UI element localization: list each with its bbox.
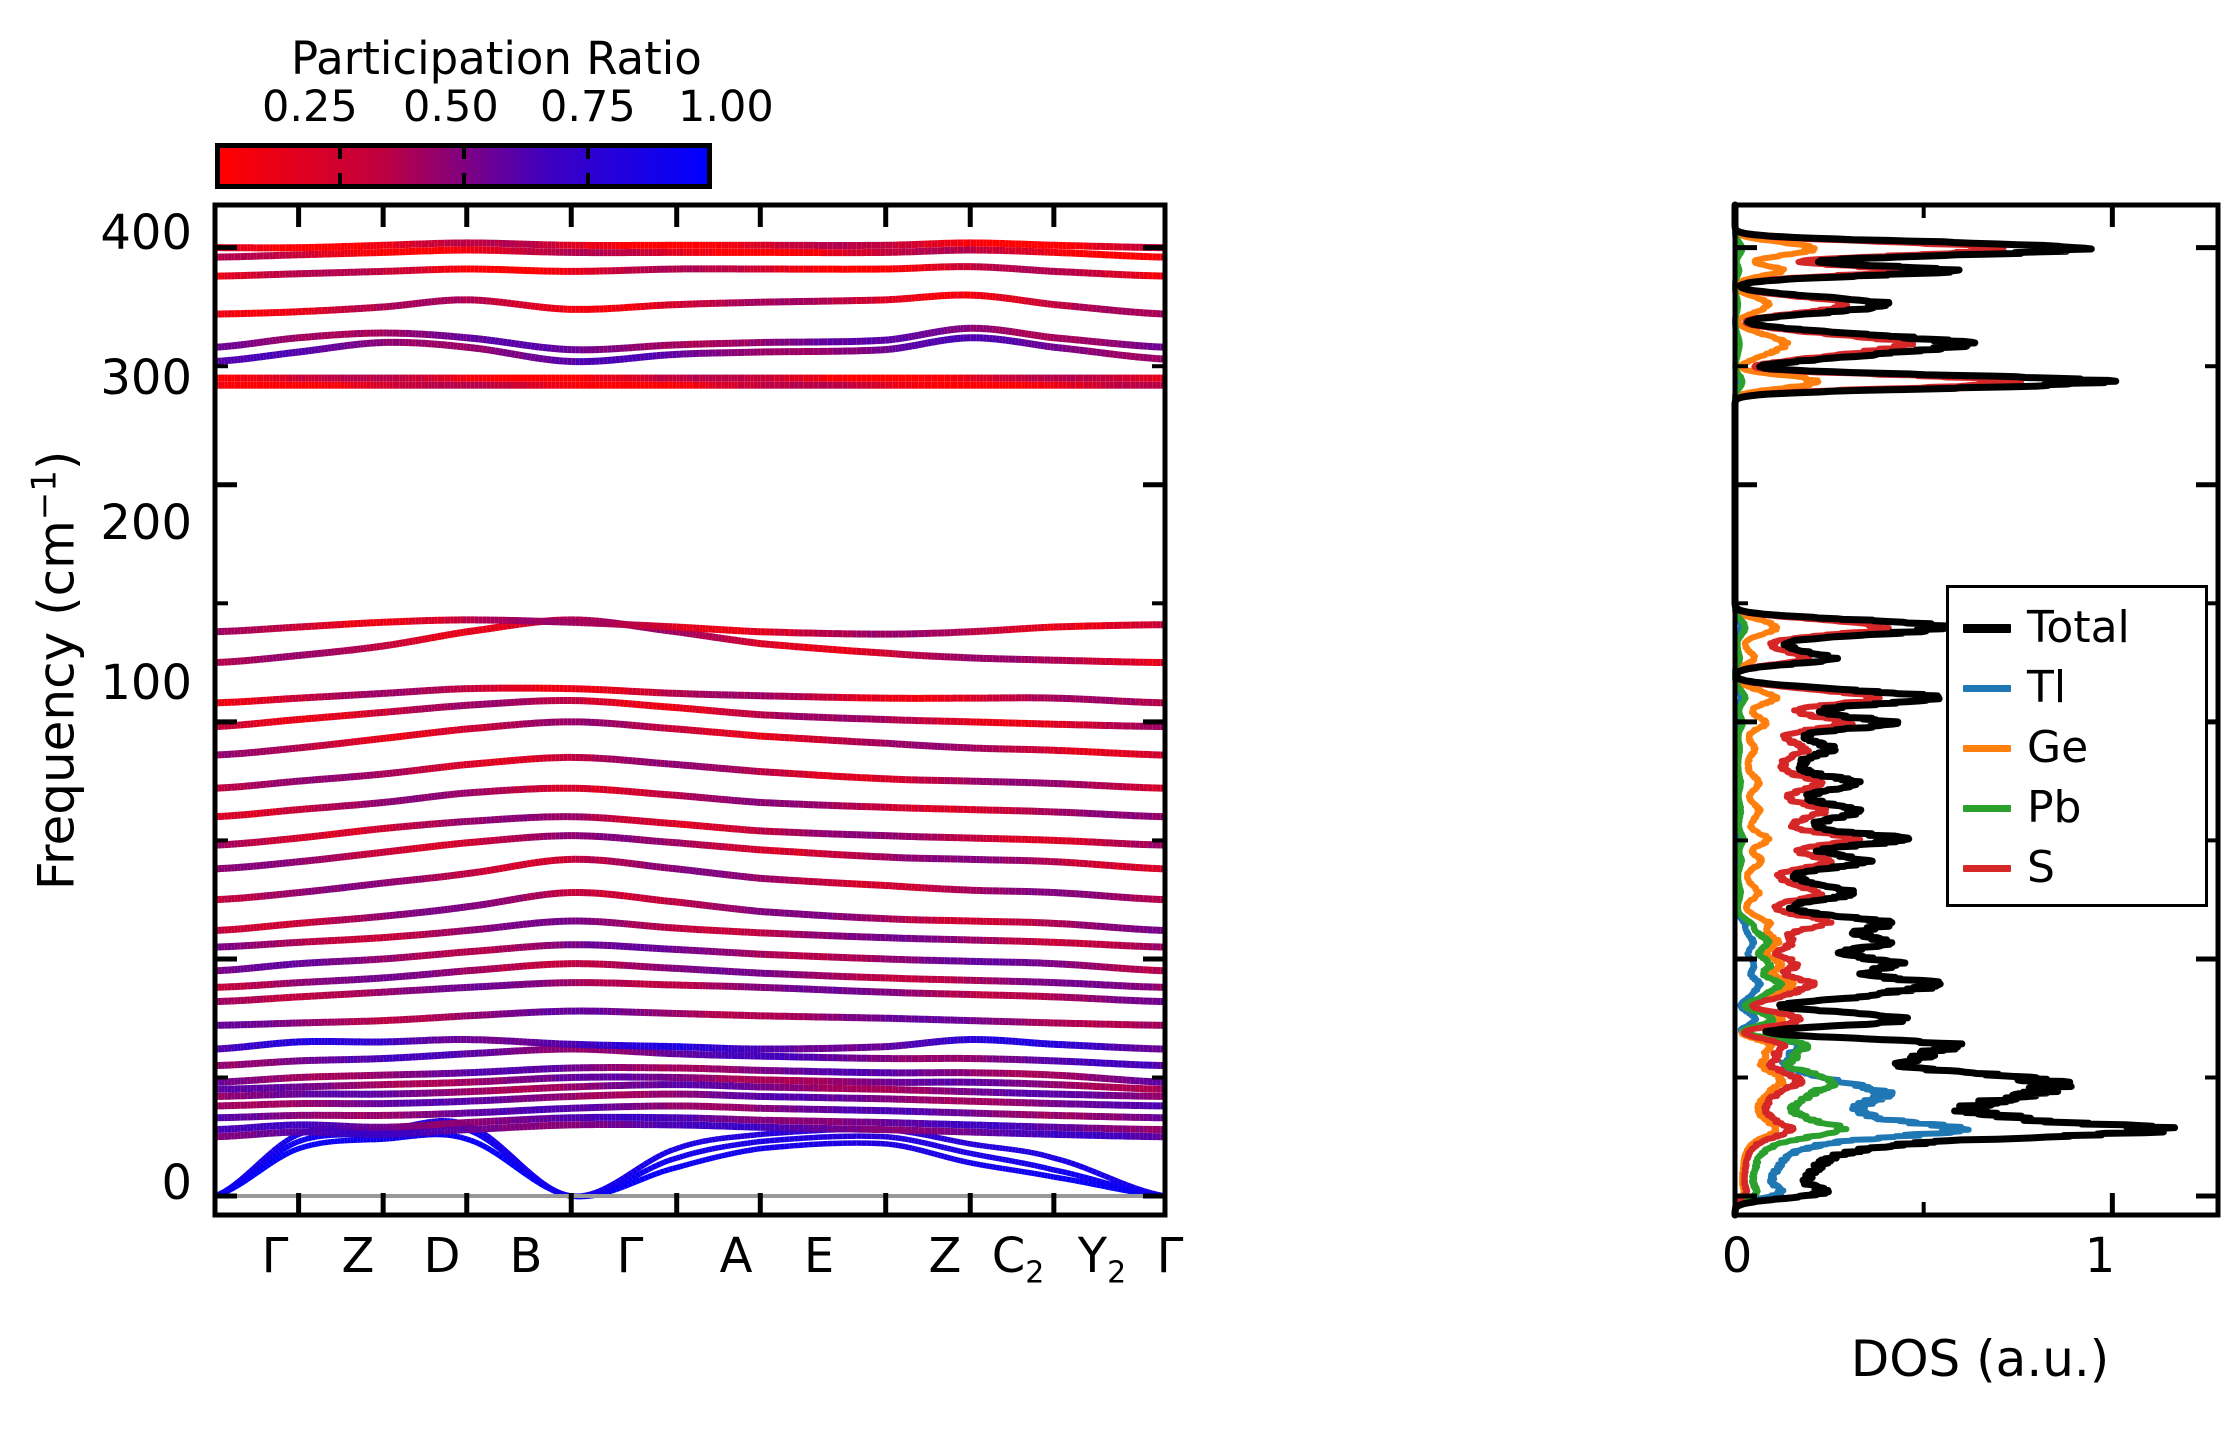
band-segment [270, 1151, 273, 1154]
band-segment [479, 871, 483, 872]
band-segment [1062, 1178, 1066, 1179]
band-segment [276, 1158, 279, 1160]
band-segment [957, 1141, 960, 1142]
band-segment [487, 870, 491, 871]
band-segment [1092, 1184, 1096, 1185]
band-segment [665, 1161, 669, 1163]
band-segment [925, 1151, 928, 1152]
band-segment [656, 1164, 660, 1166]
band-segment [731, 1153, 734, 1154]
band-segment [315, 1144, 318, 1145]
band-segment [999, 1168, 1002, 1169]
band-segment [751, 1150, 754, 1151]
band-segment [1084, 1182, 1088, 1183]
band-segment [636, 1167, 640, 1170]
band-segment [499, 1145, 503, 1148]
band-segment [1101, 1186, 1105, 1187]
band-segment [1122, 1187, 1126, 1188]
band-segment [305, 1146, 308, 1147]
band-segment [931, 1136, 934, 1137]
band-segment [660, 1153, 664, 1155]
band-segment [499, 901, 503, 902]
band-segment [686, 1145, 689, 1146]
band-segment [1054, 1170, 1058, 1171]
band-segment [702, 1150, 705, 1151]
band-segment [535, 1177, 539, 1180]
band-segment [902, 1146, 905, 1147]
band-segment [495, 902, 499, 903]
band-segment [539, 862, 543, 863]
band-segment [640, 898, 644, 899]
band-segment [279, 1144, 282, 1146]
band-segment [479, 905, 483, 906]
band-segment [636, 1180, 640, 1182]
band-segment [970, 1144, 973, 1145]
band-segment [925, 1143, 928, 1144]
band-segment [673, 1168, 677, 1169]
band-segment [1118, 1181, 1122, 1183]
band-segment [263, 1157, 266, 1160]
band-segment [712, 1157, 715, 1158]
band-segment [292, 1143, 295, 1144]
band-segment [983, 1165, 986, 1166]
band-segment [677, 1167, 680, 1168]
band-segment [503, 1158, 507, 1161]
band-segment [1114, 1180, 1118, 1182]
band-segment [993, 1167, 996, 1168]
band-segment [471, 1140, 475, 1142]
band-segment [535, 862, 539, 863]
band-segment [283, 1154, 286, 1156]
band-segment [535, 895, 539, 896]
band-segment [938, 1138, 941, 1139]
band-segment [938, 1155, 941, 1156]
band-segment [1025, 1172, 1028, 1173]
band-segment [954, 1141, 957, 1142]
band-segment [656, 1155, 660, 1157]
band-segment [648, 1175, 652, 1177]
band-segment [519, 865, 523, 866]
band-segment [715, 1148, 718, 1149]
band-segment [677, 1147, 680, 1148]
band-segment [741, 1151, 744, 1152]
band-segment [503, 867, 507, 868]
band-segment [632, 1170, 636, 1173]
band-segment [511, 1156, 515, 1160]
band-segment [273, 1154, 276, 1156]
band-segment [941, 1156, 944, 1157]
band-segment [744, 1151, 747, 1152]
band-segment [273, 1160, 276, 1162]
band-segment [1105, 1187, 1109, 1188]
band-segment [683, 1165, 686, 1166]
band-segment [247, 1171, 250, 1174]
band-segment [696, 1161, 699, 1162]
band-segment [990, 1166, 993, 1167]
band-segment [1038, 1174, 1041, 1175]
band-segment [648, 866, 652, 867]
band-segment [738, 1152, 741, 1153]
band-segment [628, 863, 632, 864]
band-segment [1109, 1184, 1113, 1185]
band-segment [973, 1154, 976, 1155]
band-segment [273, 1149, 276, 1152]
band-segment [690, 1153, 693, 1154]
band-segment [928, 1152, 931, 1153]
band-segment [1006, 1169, 1009, 1170]
band-segment [1067, 1179, 1071, 1180]
band-segment [454, 1136, 457, 1137]
band-segment [1118, 1186, 1122, 1187]
band-segment [964, 1152, 967, 1153]
band-segment [925, 1135, 928, 1136]
band-segment [276, 1146, 279, 1149]
band-segment [1041, 1155, 1044, 1156]
band-segment [660, 1162, 664, 1164]
band-segment [515, 865, 519, 866]
band-segment [1025, 1164, 1028, 1165]
band-segment [725, 1154, 728, 1155]
band-segment [921, 1142, 924, 1143]
band-segment [712, 1148, 715, 1149]
band-segment [1071, 1163, 1075, 1164]
band-segment [1075, 1181, 1079, 1182]
band-segment [1028, 1152, 1031, 1153]
band-segment [996, 1167, 999, 1168]
band-segment [1071, 1174, 1075, 1175]
band-segment [980, 1165, 983, 1166]
band-segment [921, 1134, 924, 1135]
band-segment [640, 865, 644, 866]
band-segment [559, 1193, 563, 1195]
band-segment [1006, 1160, 1009, 1161]
band-segment [648, 1168, 652, 1170]
band-segment [986, 1166, 989, 1167]
band-segment [1092, 1179, 1096, 1180]
band-segment [312, 1144, 315, 1145]
band-segment [709, 1140, 712, 1141]
band-segment [644, 1170, 648, 1172]
band-segment [683, 1145, 686, 1146]
band-segment [523, 864, 527, 865]
band-segment [693, 1143, 696, 1144]
band-segment [944, 1139, 947, 1140]
band-segment [539, 1180, 543, 1183]
band-segment [1044, 1155, 1047, 1156]
band-segment [276, 1152, 279, 1154]
band-segment [286, 1146, 289, 1148]
band-segment [912, 1140, 915, 1141]
band-segment [612, 1183, 616, 1185]
band-segment [928, 1144, 931, 1145]
band-segment [905, 1139, 908, 1140]
band-segment [250, 1168, 253, 1171]
band-segment [225, 1189, 228, 1191]
band-segment [960, 1161, 963, 1162]
band-segment [934, 1145, 937, 1146]
band-segment [305, 1139, 308, 1140]
figure-root: Participation Ratio 0.25 0.50 0.75 1.00 … [0, 0, 2222, 1455]
band-segment [632, 864, 636, 865]
band-segment [996, 1158, 999, 1159]
band-segment [1047, 1168, 1050, 1169]
band-segment [669, 1150, 673, 1152]
band-segment [967, 1162, 970, 1163]
band-segment [680, 1166, 683, 1167]
band-segment [640, 1178, 644, 1180]
band-segment [918, 1150, 921, 1151]
band-segment [699, 1161, 702, 1162]
band-segment [289, 1137, 292, 1139]
band-segment [1131, 1186, 1135, 1188]
band-segment [660, 1171, 664, 1172]
band-segment [499, 868, 503, 869]
band-segment [960, 1151, 963, 1152]
band-segment [999, 1159, 1002, 1160]
band-segment [254, 1166, 257, 1169]
band-segment [628, 1183, 632, 1185]
band-segment [899, 1146, 902, 1147]
band-segment [475, 1142, 479, 1144]
band-segment [970, 1153, 973, 1154]
band-segment [954, 1150, 957, 1151]
band-segment [302, 1139, 305, 1140]
band-segment [495, 1142, 499, 1145]
band-segment [905, 1147, 908, 1148]
band-segment [1047, 1156, 1050, 1157]
band-segment [475, 905, 479, 906]
band-segment [967, 1143, 970, 1144]
band-segment [931, 1153, 934, 1154]
band-segment [1051, 1176, 1054, 1177]
band-segment [507, 1152, 511, 1156]
band-segment [983, 1156, 986, 1157]
band-segment [990, 1157, 993, 1158]
band-segment [292, 1136, 295, 1138]
band-segment [1058, 1171, 1062, 1172]
band-segment [543, 1183, 547, 1186]
band-segment [1122, 1183, 1126, 1185]
band-segment [592, 1193, 596, 1194]
band-segment [683, 1155, 686, 1156]
band-segment [747, 1150, 750, 1151]
band-segment [918, 1142, 921, 1143]
band-segment [511, 899, 515, 900]
band-segment [270, 1162, 273, 1164]
band-segment [632, 1182, 636, 1184]
band-segment [951, 1158, 954, 1159]
band-segment [228, 1187, 231, 1189]
band-segment [934, 1137, 937, 1138]
band-segment [977, 1155, 980, 1156]
band-segment [547, 1186, 551, 1188]
band-segment [715, 1157, 718, 1158]
band-segment [1035, 1165, 1038, 1166]
band-segment [487, 1136, 491, 1139]
band-segment [1097, 1180, 1101, 1181]
band-segment [636, 1174, 640, 1176]
band-segment [283, 1141, 286, 1143]
band-segment [1044, 1168, 1047, 1169]
band-segment [690, 1144, 693, 1145]
band-segment [471, 873, 475, 874]
band-segment [1114, 1185, 1118, 1186]
band-segment [628, 1172, 632, 1175]
band-segment [1097, 1173, 1101, 1175]
band-segment [495, 1153, 499, 1156]
band-segment [1088, 1178, 1092, 1179]
band-segment [699, 1151, 702, 1152]
band-segment [475, 872, 479, 873]
band-segment [286, 1153, 289, 1155]
band-segment [503, 901, 507, 902]
band-segment [515, 1159, 519, 1163]
band-segment [1127, 1185, 1131, 1187]
band-segment [483, 871, 487, 872]
band-segment [1009, 1160, 1012, 1161]
band-segment [719, 1147, 722, 1148]
band-segment [503, 1149, 507, 1153]
band-segment [260, 1160, 263, 1163]
band-segment [620, 1178, 624, 1181]
band-segment [527, 1170, 531, 1173]
band-segment [686, 1164, 689, 1165]
band-segment [636, 897, 640, 898]
band-segment [993, 1158, 996, 1159]
band-segment [728, 1154, 731, 1155]
band-segment [957, 1151, 960, 1152]
band-segment [244, 1174, 247, 1177]
band-segment [1105, 1183, 1109, 1184]
band-segment [951, 1149, 954, 1150]
band-segment [970, 1163, 973, 1164]
band-segment [722, 1147, 725, 1148]
band-segment [1038, 1166, 1041, 1167]
band-segment [644, 898, 648, 899]
band-segment [648, 1160, 652, 1162]
band-segment [921, 1150, 924, 1151]
band-segment [289, 1151, 292, 1153]
band-segment [669, 1169, 673, 1170]
band-segment [1067, 1162, 1071, 1163]
band-segment [915, 1141, 918, 1142]
band-segment [696, 1142, 699, 1143]
band-segment [1148, 1192, 1152, 1193]
band-segment [467, 1139, 471, 1140]
band-segment [1031, 1173, 1034, 1174]
band-segment [1035, 1174, 1038, 1175]
band-segment [1084, 1168, 1088, 1170]
band-segment [1084, 1177, 1088, 1178]
band-segment [1088, 1169, 1092, 1171]
band-segment [495, 869, 499, 870]
band-segment [483, 1133, 487, 1136]
band-segment [1018, 1162, 1021, 1163]
band-segment [507, 900, 511, 901]
band-segment [1135, 1188, 1139, 1189]
band-segment [628, 1178, 632, 1180]
band-segment [934, 1154, 937, 1155]
band-segment [519, 1163, 523, 1167]
band-segment [1015, 1162, 1018, 1163]
band-segment [1038, 1154, 1041, 1155]
band-segment [499, 1155, 503, 1158]
band-segment [686, 1154, 689, 1155]
band-segment [1035, 1153, 1038, 1154]
band-segment [608, 1185, 612, 1187]
band-segment [947, 1140, 950, 1141]
band-segment [640, 1165, 644, 1168]
band-segment [1075, 1164, 1079, 1166]
band-segment [1012, 1161, 1015, 1162]
band-segment [539, 895, 543, 896]
band-segment [908, 1140, 911, 1141]
band-segment [238, 1180, 241, 1183]
band-segment [964, 1161, 967, 1162]
band-segment [555, 1191, 559, 1193]
band-segment [706, 1140, 709, 1141]
band-segment [1105, 1176, 1109, 1178]
band-segment [706, 1159, 709, 1160]
band-segment [928, 1136, 931, 1137]
band-segment [722, 1155, 725, 1156]
band-segment [531, 1174, 535, 1177]
band-segment [735, 1152, 738, 1153]
band-segment [977, 1164, 980, 1165]
band-segment [702, 1160, 705, 1161]
band-segment [460, 1137, 463, 1138]
band-segment [702, 1141, 705, 1142]
band-segment [709, 1149, 712, 1150]
band-segment [1047, 1176, 1050, 1177]
band-segment [699, 1141, 702, 1142]
band-segment [725, 1146, 728, 1147]
band-segment [624, 1175, 628, 1178]
band-segment [483, 1146, 487, 1148]
band-segment [616, 1180, 620, 1182]
band-segment [908, 1147, 911, 1148]
band-segment [289, 1144, 292, 1146]
band-segment [951, 1140, 954, 1141]
band-segment [1101, 1182, 1105, 1183]
band-segment [302, 1147, 305, 1148]
band-segment [954, 1159, 957, 1160]
band-segment [604, 1187, 608, 1189]
band-segment [944, 1148, 947, 1149]
band-segment [902, 1139, 905, 1140]
band-segment [1009, 1169, 1012, 1170]
band-segment [527, 863, 531, 864]
band-segment [527, 897, 531, 898]
band-segment [1080, 1176, 1084, 1177]
band-segment [947, 1157, 950, 1158]
band-segment [312, 1137, 315, 1138]
band-segment [1028, 1172, 1031, 1173]
band-segment [624, 1185, 628, 1187]
band-segment [551, 1189, 555, 1191]
band-segment [519, 898, 523, 899]
band-segment [931, 1144, 934, 1145]
band-segment [973, 1163, 976, 1164]
band-segment [308, 1138, 311, 1139]
band-segment [234, 1182, 237, 1184]
band-segment [690, 1163, 693, 1164]
band-segment [483, 904, 487, 905]
band-segment [1015, 1170, 1018, 1171]
band-segment [680, 1146, 683, 1147]
band-segment [1044, 1175, 1047, 1176]
band-segment [1080, 1166, 1084, 1168]
